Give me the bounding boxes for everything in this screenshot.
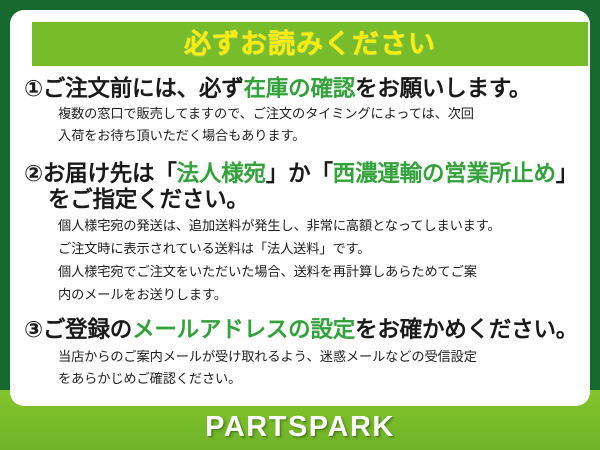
header-title: 必ずお読みください [184, 31, 436, 58]
notice-item: ②お届け先は「法人様宛」か「西濃運輸の営業所止め」をご指定ください。個人様宅宛の… [20, 161, 600, 305]
notice-item-body-line: 当店からのご案内メールが受け取れるよう、迷惑メールなどの受信設定 [20, 348, 600, 367]
heading-text: ②お届け先は「 [24, 161, 177, 186]
heading-text: をご指定ください。 [48, 187, 249, 212]
highlighted-phrase: 法人様宛 [177, 161, 266, 186]
notice-item: ③ご登録のメールアドレスの設定をお確かめください。当店からのご案内メールが受け取… [20, 317, 600, 389]
notice-item-body-line: 複数の窓口で販売してますので、ご注文のタイミングによっては、次回 [20, 105, 600, 124]
notice-banner: 必ずお読みください ①ご注文前には、必ず在庫の確認をお願いします。複数の窓口で販… [0, 0, 600, 450]
heading-text: ③ご登録の [24, 317, 132, 342]
highlighted-phrase: 西濃運輸の営業所止め [333, 161, 556, 186]
notice-item: ①ご注文前には、必ず在庫の確認をお願いします。複数の窓口で販売してますので、ご注… [20, 76, 600, 146]
brand-footer: PARTSPARK [0, 413, 600, 442]
notice-item-heading: ①ご注文前には、必ず在庫の確認をお願いします。 [20, 76, 600, 102]
white-content-panel: 必ずお読みください ①ご注文前には、必ず在庫の確認をお願いします。複数の窓口で販… [10, 10, 590, 406]
heading-text: をお願いします。 [355, 76, 531, 101]
notice-item-body-line: をあらかじめご確認ください。 [20, 370, 600, 389]
notice-items-container: ①ご注文前には、必ず在庫の確認をお願いします。複数の窓口で販売してますので、ご注… [20, 76, 600, 389]
notice-item-heading: ②お届け先は「法人様宛」か「西濃運輸の営業所止め」 [20, 161, 600, 187]
heading-text: 」 [556, 161, 578, 186]
highlighted-phrase: メールアドレスの設定 [132, 317, 355, 342]
heading-text: ①ご注文前には、必ず [24, 76, 244, 101]
notice-item-body-line: ご注文時に表示されている送料は「法人送料」です。 [20, 240, 600, 259]
heading-text: 」か「 [266, 161, 333, 186]
notice-item-body-line: 入荷をお待ち頂いただく場合もあります。 [20, 127, 600, 146]
notice-item-heading: ③ご登録のメールアドレスの設定をお確かめください。 [20, 317, 600, 343]
notice-item-body-line: 個人様宅宛でご注文をいただいた場合、送料を再計算しあらためてご案 [20, 263, 600, 282]
notice-item-body-line: 内のメールをお送りします。 [20, 286, 600, 305]
brand-name: PARTSPARK [205, 413, 395, 442]
heading-text: をお確かめください。 [355, 317, 578, 342]
notice-item-heading: をご指定ください。 [20, 187, 600, 213]
highlighted-phrase: 在庫の確認 [244, 76, 356, 101]
header-banner: 必ずお読みください [32, 22, 588, 66]
notice-item-body-line: 個人様宅宛の発送は、追加送料が発生し、非常に高額となってしまいます。 [20, 217, 600, 236]
